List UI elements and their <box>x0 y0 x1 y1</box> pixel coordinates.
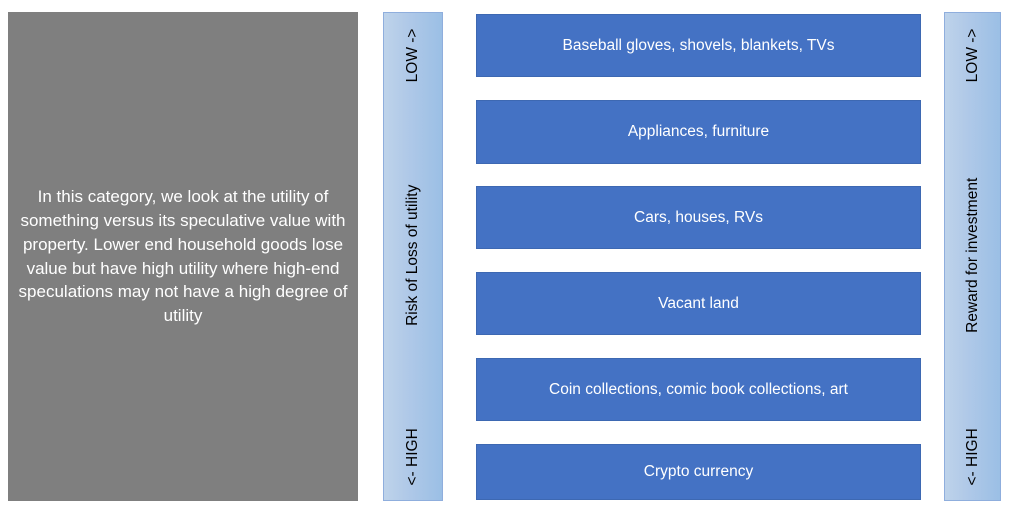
category-label: Vacant land <box>658 295 739 313</box>
category-box[interactable]: Baseball gloves, shovels, blankets, TVs <box>476 14 921 77</box>
reward-axis-bar: LOW -> Reward for investment <- HIGH <box>944 12 1001 501</box>
reward-axis-high-label: <- HIGH <box>964 428 982 485</box>
description-panel: In this category, we look at the utility… <box>8 12 358 501</box>
category-label: Cars, houses, RVs <box>634 209 763 227</box>
category-label: Coin collections, comic book collections… <box>549 381 848 399</box>
category-stack: Baseball gloves, shovels, blankets, TVs … <box>476 14 921 500</box>
category-box[interactable]: Cars, houses, RVs <box>476 186 921 249</box>
category-box[interactable]: Coin collections, comic book collections… <box>476 358 921 421</box>
risk-axis-low-label: LOW -> <box>404 28 422 82</box>
category-box[interactable]: Vacant land <box>476 272 921 335</box>
category-label: Crypto currency <box>644 463 753 481</box>
reward-axis-labels: LOW -> Reward for investment <- HIGH <box>953 12 993 501</box>
category-box[interactable]: Appliances, furniture <box>476 100 921 164</box>
category-box[interactable]: Crypto currency <box>476 444 921 500</box>
description-text: In this category, we look at the utility… <box>8 185 358 328</box>
category-label: Baseball gloves, shovels, blankets, TVs <box>563 37 835 55</box>
risk-axis-bar: LOW -> Risk of Loss of utility <- HIGH <box>383 12 443 501</box>
risk-axis-high-label: <- HIGH <box>404 428 422 485</box>
reward-axis-low-label: LOW -> <box>964 28 982 82</box>
risk-axis-title: Risk of Loss of utility <box>404 184 422 325</box>
reward-axis-title: Reward for investment <box>964 177 982 332</box>
risk-axis-labels: LOW -> Risk of Loss of utility <- HIGH <box>393 12 433 501</box>
category-label: Appliances, furniture <box>628 123 769 141</box>
